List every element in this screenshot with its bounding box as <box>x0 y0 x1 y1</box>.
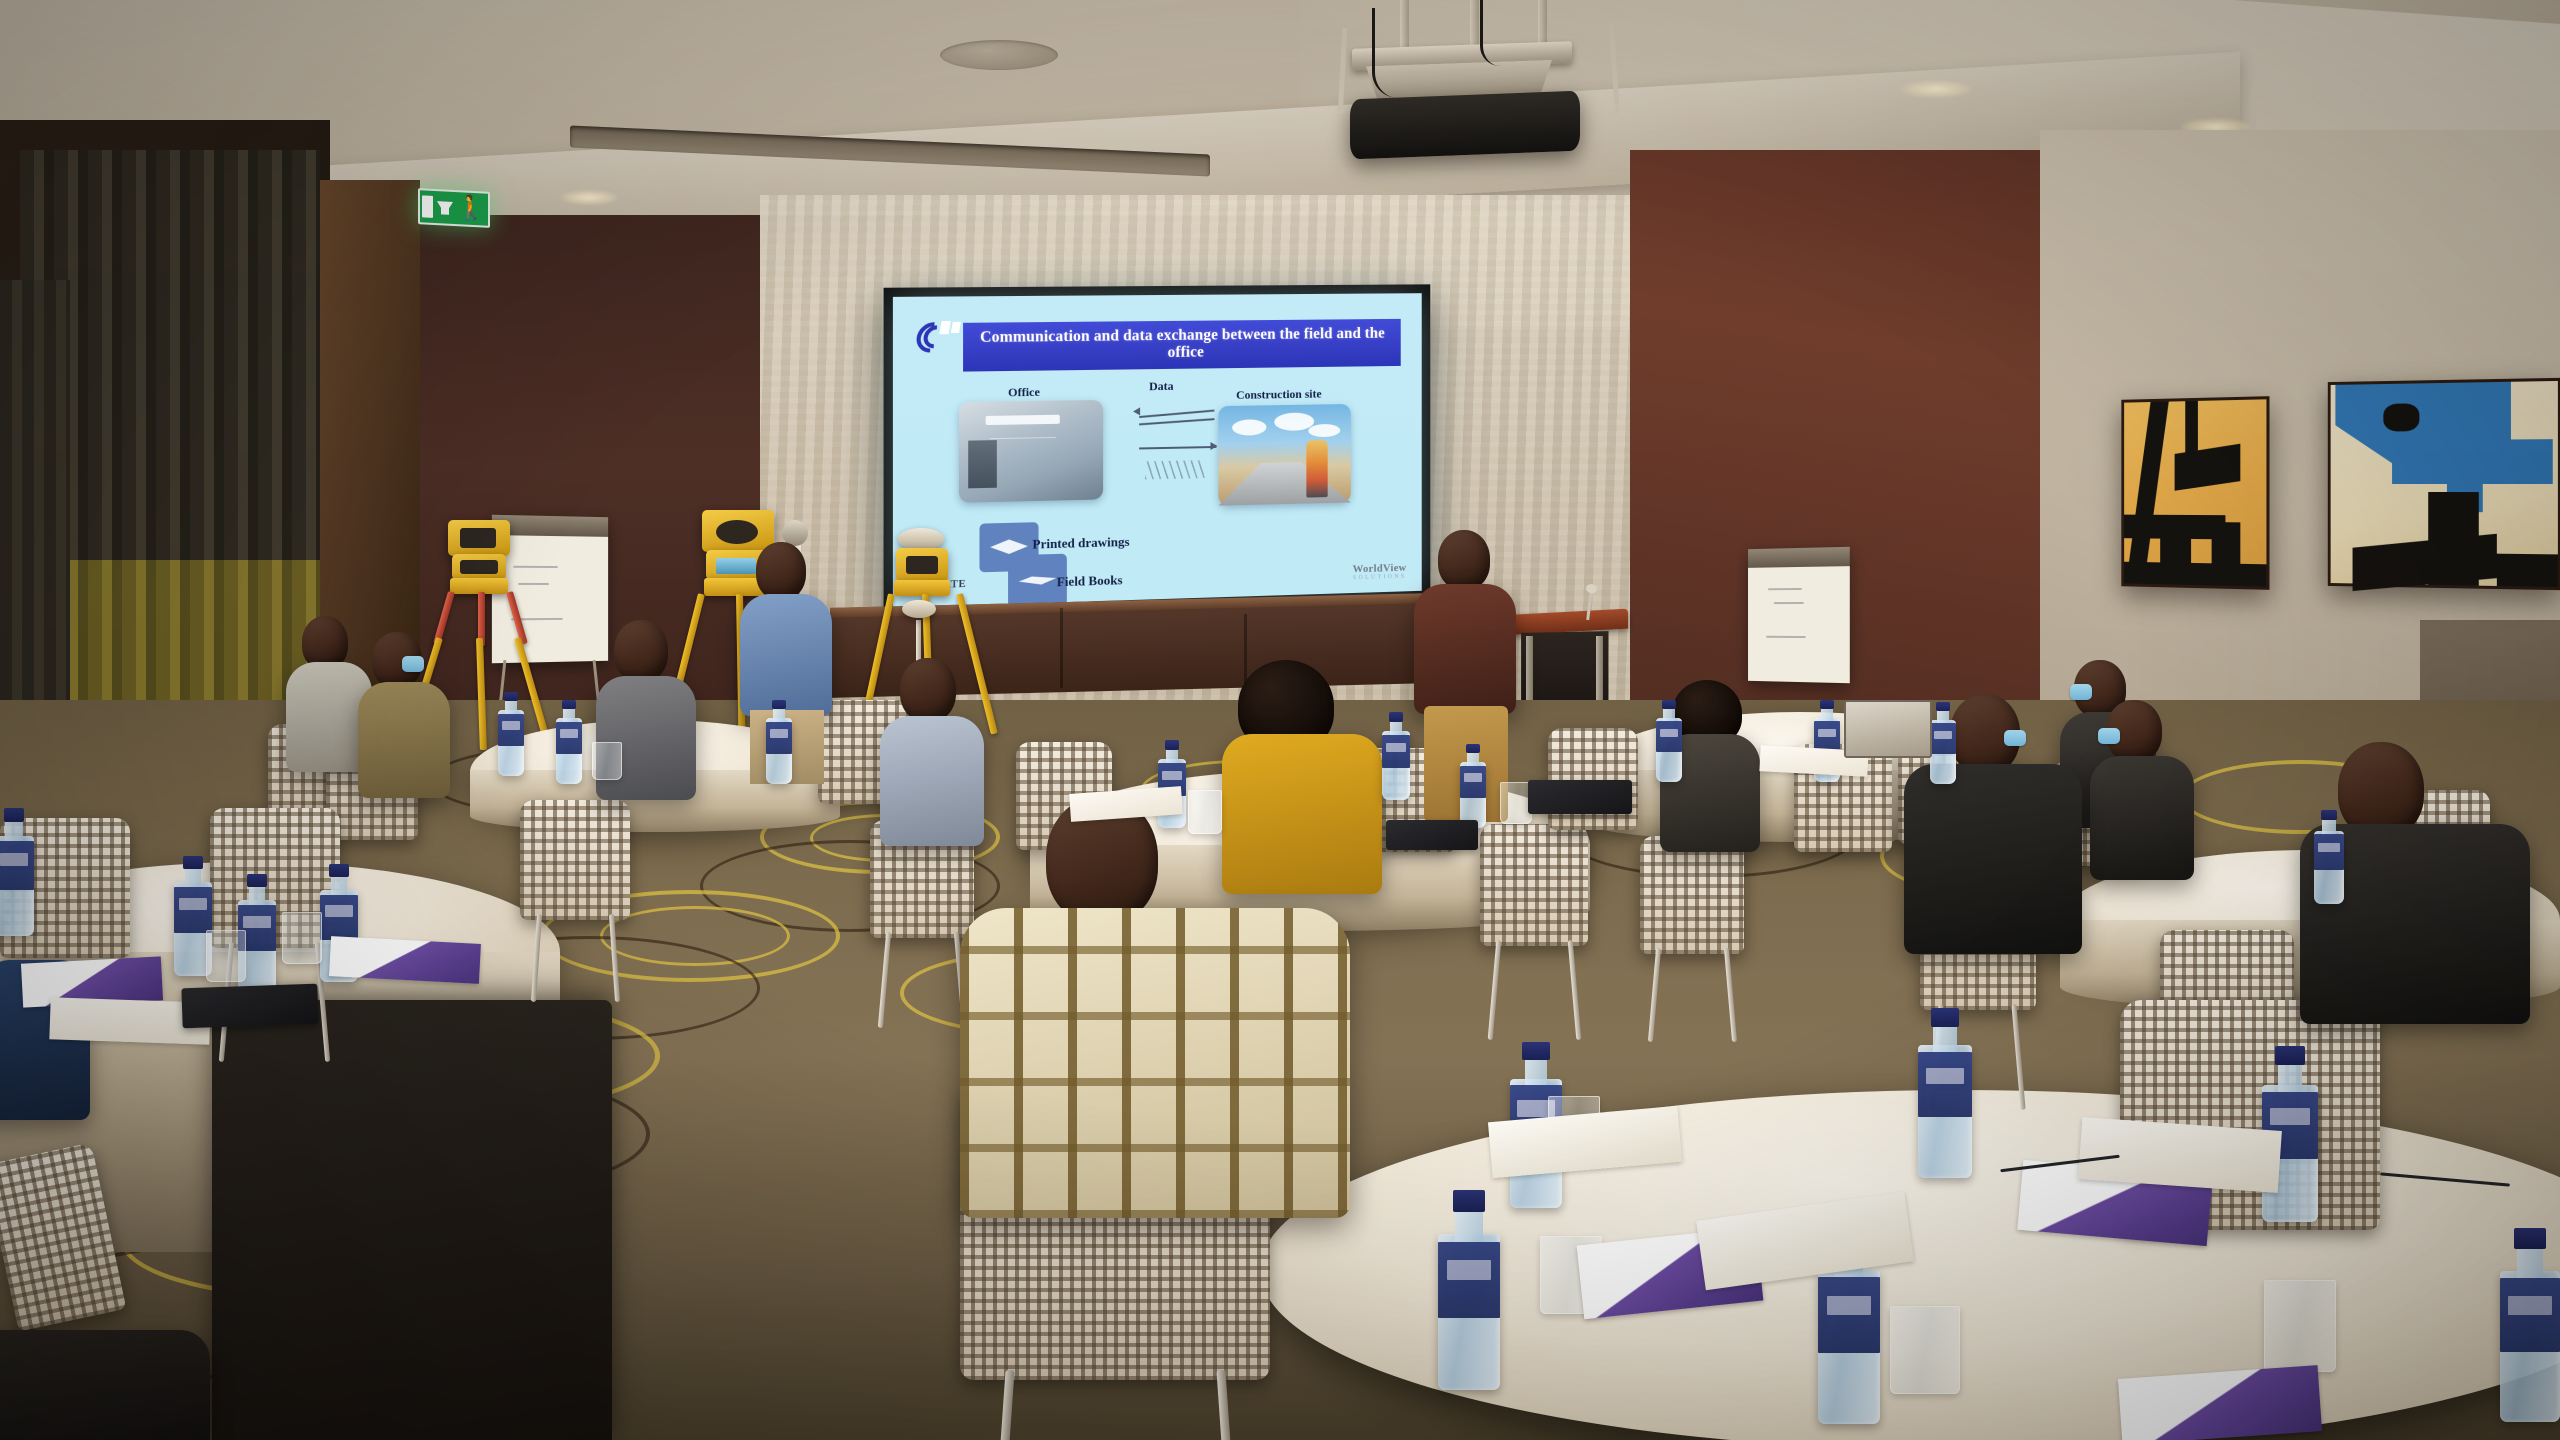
artwork-abstract-yellow <box>2121 396 2269 590</box>
flipchart-right <box>1748 547 1850 683</box>
gnss-rover-left <box>902 600 936 618</box>
slide-title-text: Communication and data exchange between … <box>969 326 1395 364</box>
water-bottle[interactable] <box>2500 1228 2560 1422</box>
plaid-shirt <box>960 908 1350 1218</box>
slide-label-construction-site: Construction site <box>1236 387 1321 403</box>
drinking-glass[interactable] <box>1890 1306 1960 1394</box>
water-bottle[interactable] <box>766 700 792 784</box>
chair[interactable] <box>520 800 630 920</box>
brochure[interactable] <box>2118 1365 2322 1440</box>
water-bottle[interactable] <box>556 700 582 784</box>
projection-screen: Communication and data exchange between … <box>884 284 1431 617</box>
slide-brand-worldview: WorldView SOLUTIONS <box>1353 562 1407 581</box>
slide-photo-construction-site <box>1218 404 1350 506</box>
slide-swoosh-logo-icon <box>914 319 968 354</box>
exit-sign: 🚶 <box>418 188 490 228</box>
chair[interactable] <box>1640 836 1744 954</box>
water-bottle[interactable] <box>1930 702 1956 784</box>
worldview-sublabel: SOLUTIONS <box>1353 574 1407 582</box>
exit-door-icon <box>422 195 433 218</box>
drinking-glass[interactable] <box>592 742 622 780</box>
water-bottle[interactable] <box>1918 1008 1972 1178</box>
table-drape-dark <box>212 1000 612 1440</box>
slide-title: Communication and data exchange between … <box>963 319 1401 372</box>
drinking-glass[interactable] <box>206 930 246 982</box>
presentation-slide: Communication and data exchange between … <box>893 293 1422 607</box>
slide-item-field-books: Field Books <box>1057 572 1123 590</box>
folder[interactable] <box>1528 780 1632 814</box>
brochure[interactable] <box>329 936 481 984</box>
downlight-icon <box>560 190 618 205</box>
slide-photo-office <box>959 400 1103 503</box>
water-bottle[interactable] <box>2314 810 2344 904</box>
slide-item-printed-drawings: Printed drawings <box>1032 534 1129 553</box>
ceiling-speaker-icon <box>940 40 1058 70</box>
drinking-glass[interactable] <box>1188 790 1222 834</box>
total-station-display <box>716 558 756 574</box>
water-bottle[interactable] <box>1438 1190 1500 1390</box>
water-bottle[interactable] <box>498 692 524 776</box>
chair[interactable] <box>1548 728 1638 830</box>
drinking-glass[interactable] <box>282 912 322 964</box>
slide-label-data: Data <box>1149 379 1174 394</box>
downlight-icon <box>1900 80 1972 98</box>
gnss-rover-antenna <box>898 528 944 550</box>
slide-label-office: Office <box>1008 385 1040 401</box>
chair[interactable] <box>1480 824 1588 946</box>
artwork-abstract-blue <box>2328 378 2560 590</box>
slide-data-arrows <box>893 293 1422 297</box>
down-arrow-icon <box>437 201 453 215</box>
water-bottle[interactable] <box>1656 700 1682 782</box>
conference-room-scene: 🚶 Communication and data exchange betwee… <box>0 0 2560 1440</box>
drinking-glass[interactable] <box>2264 1280 2336 1372</box>
folder[interactable] <box>1386 820 1478 850</box>
folder[interactable] <box>181 984 318 1029</box>
water-bottle[interactable] <box>1460 744 1486 828</box>
laptop-screen <box>1844 700 1932 758</box>
water-bottle[interactable] <box>1382 712 1410 800</box>
water-bottle[interactable] <box>0 808 34 936</box>
running-man-icon: 🚶 <box>456 197 486 221</box>
